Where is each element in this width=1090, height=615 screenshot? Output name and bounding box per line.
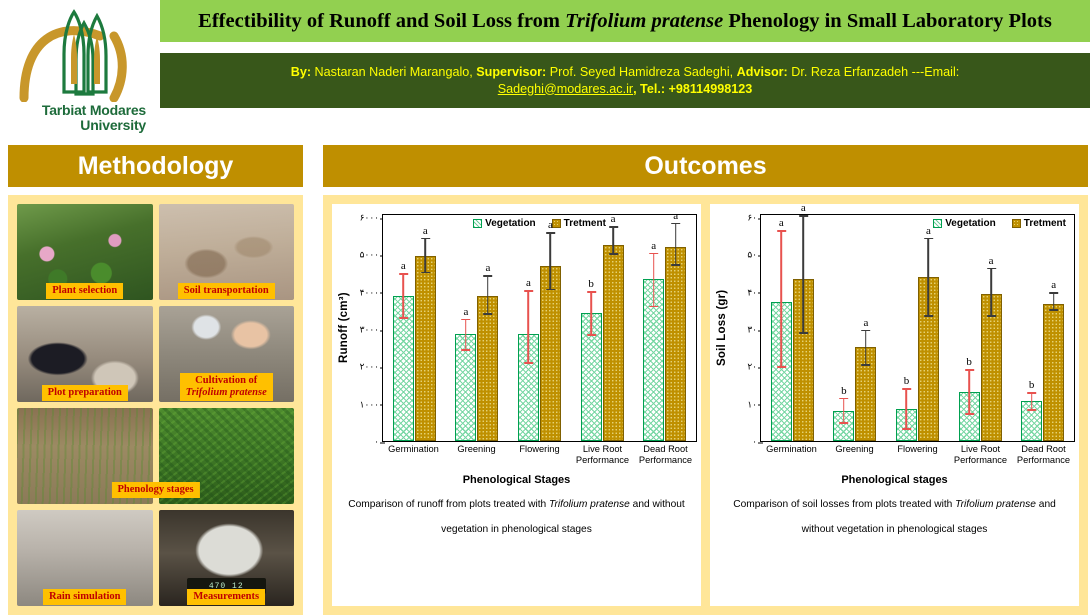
y-axis: ۰۱۰۰۰۲۰۰۰۳۰۰۰۴۰۰۰۵۰۰۰۶۰۰۰ bbox=[352, 214, 382, 442]
error-bar bbox=[653, 253, 655, 308]
spacer bbox=[303, 145, 315, 187]
y-axis-tick: ۰ bbox=[752, 437, 757, 448]
bar-slot: b bbox=[581, 215, 602, 441]
bar-series-container: aaaaaabaaa bbox=[383, 215, 696, 441]
section-header-outcomes: Outcomes bbox=[323, 145, 1088, 187]
y-axis-title: Runoff (cm³) bbox=[336, 214, 352, 442]
photo-caption-label: Plant selection bbox=[46, 283, 123, 299]
page-title: Effectibility of Runoff and Soil Loss fr… bbox=[198, 10, 1052, 33]
bar-tretment bbox=[415, 256, 436, 441]
bar-group: ba bbox=[581, 215, 624, 441]
significance-letter: a bbox=[926, 225, 931, 237]
logo-art-icon bbox=[14, 6, 146, 102]
significance-letter: a bbox=[526, 277, 531, 289]
bar-slot: a bbox=[477, 215, 498, 441]
author-byline-bar: By: Nastaran Naderi Marangalo, Superviso… bbox=[160, 53, 1090, 108]
error-bar bbox=[990, 268, 992, 317]
significance-letter: a bbox=[779, 217, 784, 229]
significance-letter: b bbox=[1029, 379, 1035, 391]
bar-group: aa bbox=[771, 215, 814, 441]
error-bar bbox=[803, 215, 805, 334]
methodology-photo: Plot preparation bbox=[14, 303, 156, 405]
y-axis-tick: ۴۰۰۰ bbox=[360, 287, 379, 298]
bar-group: ba bbox=[833, 215, 876, 441]
bar-tretment bbox=[540, 266, 561, 441]
error-bar bbox=[612, 226, 614, 254]
bar-slot: b bbox=[959, 215, 980, 441]
photo-caption-label: Measurements bbox=[187, 589, 265, 605]
outcomes-panel: Runoff (cm³)۰۱۰۰۰۲۰۰۰۳۰۰۰۴۰۰۰۵۰۰۰۶۰۰۰Veg… bbox=[323, 195, 1088, 615]
x-axis-tick-label: Live Root Performance bbox=[953, 444, 1009, 466]
bar-slot: a bbox=[981, 215, 1002, 441]
x-axis-labels: GerminationGreeningFloweringLive Root Pe… bbox=[714, 444, 1075, 466]
methodology-photo: Plant selection bbox=[14, 201, 156, 303]
x-axis-tick-label: Greening bbox=[449, 444, 505, 466]
poster-title-bar: Effectibility of Runoff and Soil Loss fr… bbox=[160, 0, 1090, 42]
bar-slot: a bbox=[643, 215, 664, 441]
x-axis-tick-label: Germination bbox=[386, 444, 442, 466]
phenology-stages-label: Phenology stages bbox=[111, 482, 199, 498]
error-bar bbox=[968, 369, 970, 414]
significance-letter: a bbox=[989, 255, 994, 267]
significance-letter: b bbox=[588, 278, 594, 290]
photo-caption-label: Rain simulation bbox=[43, 589, 126, 605]
bar-slot: a bbox=[918, 215, 939, 441]
significance-letter: a bbox=[548, 219, 553, 231]
email-link[interactable]: Sadeghi@modares.ac.ir bbox=[498, 82, 633, 96]
y-axis: ۰۱۰۲۰۳۰۴۰۵۰۶۰ bbox=[730, 214, 760, 442]
y-axis-tick: ۱۰ bbox=[747, 399, 757, 410]
chart-caption: Comparison of soil losses from plots tre… bbox=[714, 492, 1075, 542]
x-axis-tick-label: Flowering bbox=[512, 444, 568, 466]
x-axis-tick-label: Dead Root Performance bbox=[1016, 444, 1072, 466]
significance-letter: a bbox=[485, 262, 490, 274]
bar-group: ba bbox=[896, 215, 939, 441]
significance-letter: a bbox=[463, 306, 468, 318]
bar-slot: a bbox=[393, 215, 414, 441]
bar-slot: a bbox=[1043, 215, 1064, 441]
significance-letter: a bbox=[651, 240, 656, 252]
bar-tretment bbox=[477, 296, 498, 441]
bar-slot: b bbox=[833, 215, 854, 441]
x-axis-tick-label: Greening bbox=[827, 444, 883, 466]
y-axis-tick: ۶۰۰۰ bbox=[360, 213, 379, 224]
photo-caption-label: Soil transportation bbox=[178, 283, 275, 299]
byline-line-1: By: Nastaran Naderi Marangalo, Superviso… bbox=[291, 64, 960, 81]
error-bar bbox=[843, 398, 845, 424]
y-axis-tick: ۱۰۰۰ bbox=[360, 399, 379, 410]
bar-group: aa bbox=[455, 215, 498, 441]
significance-letter: a bbox=[611, 213, 616, 225]
bar-slot: a bbox=[415, 215, 436, 441]
bar-tretment bbox=[1043, 304, 1064, 441]
y-axis-tick: ۳۰۰۰ bbox=[360, 325, 379, 336]
bar-slot: a bbox=[540, 215, 561, 441]
bar-slot: b bbox=[1021, 215, 1042, 441]
bar-tretment bbox=[665, 247, 686, 441]
significance-letter: a bbox=[673, 210, 678, 222]
x-axis-tick-label: Dead Root Performance bbox=[638, 444, 694, 466]
significance-letter: b bbox=[904, 375, 910, 387]
bar-slot: b bbox=[896, 215, 917, 441]
bar-slot: a bbox=[793, 215, 814, 441]
photo-caption-label: Plot preparation bbox=[42, 385, 128, 401]
bar-slot: a bbox=[518, 215, 539, 441]
significance-letter: b bbox=[841, 385, 847, 397]
y-axis-title: Soil Loss (gr) bbox=[714, 214, 730, 442]
error-bar bbox=[865, 330, 867, 366]
bar-slot: a bbox=[603, 215, 624, 441]
y-axis-tick: ۲۰۰۰ bbox=[360, 362, 379, 373]
logo-text: Tarbiat Modares University bbox=[14, 103, 146, 132]
error-bar bbox=[487, 275, 489, 315]
caption-species-name: Trifolium pratense bbox=[955, 499, 1036, 510]
chart-card-runoff: Runoff (cm³)۰۱۰۰۰۲۰۰۰۳۰۰۰۴۰۰۰۵۰۰۰۶۰۰۰Veg… bbox=[332, 204, 701, 606]
error-bar bbox=[465, 319, 467, 351]
y-axis-tick: ۲۰ bbox=[747, 362, 757, 373]
section-header-row: Methodology Outcomes bbox=[0, 145, 1090, 187]
bar-series-container: aababababa bbox=[761, 215, 1074, 441]
y-axis-tick: ۶۰ bbox=[747, 213, 757, 224]
photo-caption-label: Cultivation ofTrifolium pratense bbox=[180, 373, 273, 401]
error-bar bbox=[1053, 292, 1055, 311]
university-logo: Tarbiat Modares University bbox=[0, 0, 160, 140]
significance-letter: a bbox=[801, 202, 806, 214]
y-axis-tick: ۰ bbox=[374, 437, 379, 448]
methodology-photo: Rain simulation bbox=[14, 507, 156, 609]
bar-group: ba bbox=[959, 215, 1002, 441]
error-bar bbox=[928, 238, 930, 317]
x-axis-title: Phenological stages bbox=[714, 474, 1075, 486]
bar-tretment bbox=[603, 245, 624, 441]
methodology-photo-grid: Plant selectionSoil transportationPlot p… bbox=[8, 195, 303, 615]
bar-group: aa bbox=[643, 215, 686, 441]
bar-slot: a bbox=[455, 215, 476, 441]
error-bar bbox=[425, 238, 427, 274]
methodology-photo: 470 12Measurements bbox=[156, 507, 298, 609]
plot-area: VegetationTretmentaaaaaabaaa bbox=[382, 214, 697, 442]
error-bar bbox=[675, 223, 677, 266]
x-axis-tick-label: Germination bbox=[764, 444, 820, 466]
error-bar bbox=[906, 388, 908, 429]
chart-soilloss: Soil Loss (gr)۰۱۰۲۰۳۰۴۰۵۰۶۰VegetationTre… bbox=[714, 210, 1075, 442]
error-bar bbox=[590, 291, 592, 335]
bar-group: aa bbox=[393, 215, 436, 441]
significance-letter: a bbox=[401, 260, 406, 272]
y-axis-tick: ۳۰ bbox=[747, 325, 757, 336]
error-bar bbox=[403, 273, 405, 318]
bar-slot: a bbox=[665, 215, 686, 441]
bar-group: aa bbox=[518, 215, 561, 441]
methodology-photo: Cultivation ofTrifolium pratense bbox=[156, 303, 298, 405]
section-header-methodology: Methodology bbox=[8, 145, 303, 187]
chart-card-soilloss: Soil Loss (gr)۰۱۰۲۰۳۰۴۰۵۰۶۰VegetationTre… bbox=[710, 204, 1079, 606]
poster-header: Tarbiat Modares University Effectibility… bbox=[0, 0, 1090, 140]
y-axis-tick: ۵۰۰۰ bbox=[360, 250, 379, 261]
significance-letter: b bbox=[966, 356, 972, 368]
error-bar bbox=[550, 232, 552, 290]
chart-caption: Comparison of runoff from plots treated … bbox=[336, 492, 697, 542]
bar-slot: a bbox=[771, 215, 792, 441]
caption-species-name: Trifolium pratense bbox=[549, 499, 630, 510]
chart-runoff: Runoff (cm³)۰۱۰۰۰۲۰۰۰۳۰۰۰۴۰۰۰۵۰۰۰۶۰۰۰Veg… bbox=[336, 210, 697, 442]
error-bar bbox=[1031, 392, 1033, 411]
methodology-photo: Soil transportation bbox=[156, 201, 298, 303]
error-bar bbox=[781, 230, 783, 367]
plot-area: VegetationTretmentaababababa bbox=[760, 214, 1075, 442]
x-axis-tick-label: Flowering bbox=[890, 444, 946, 466]
bar-slot: a bbox=[855, 215, 876, 441]
x-axis-labels: GerminationGreeningFloweringLive Root Pe… bbox=[336, 444, 697, 466]
bar-group: ba bbox=[1021, 215, 1064, 441]
y-axis-tick: ۴۰ bbox=[747, 287, 757, 298]
y-axis-tick: ۵۰ bbox=[747, 250, 757, 261]
significance-letter: a bbox=[423, 225, 428, 237]
significance-letter: a bbox=[1051, 279, 1056, 291]
byline-line-2: Sadeghi@modares.ac.ir, Tel.: +9811499812… bbox=[498, 81, 752, 98]
x-axis-tick-label: Live Root Performance bbox=[575, 444, 631, 466]
poster-body: Plant selectionSoil transportationPlot p… bbox=[0, 195, 1090, 615]
x-axis-title: Phenological Stages bbox=[336, 474, 697, 486]
significance-letter: a bbox=[863, 317, 868, 329]
error-bar bbox=[528, 290, 530, 363]
